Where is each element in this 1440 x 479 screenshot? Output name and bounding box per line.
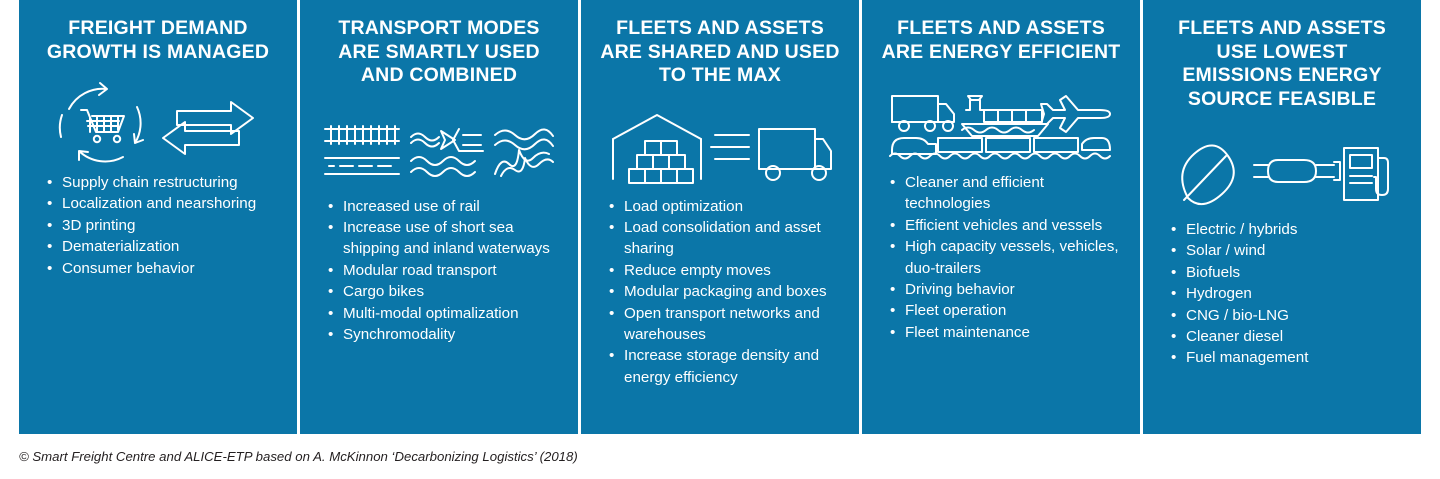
list-item: Hydrogen (1171, 283, 1405, 304)
list-item: Fuel management (1171, 347, 1405, 368)
panel-icon-group (1157, 123, 1407, 219)
list-item: Reduce empty moves (609, 260, 843, 281)
two-way-arrows-icon (163, 102, 253, 154)
list-item: Electric / hybrids (1171, 219, 1405, 240)
panel-bullet-list: Load optimization Load consolidation and… (595, 196, 845, 389)
list-item: 3D printing (47, 215, 281, 236)
list-item: Solar / wind (1171, 240, 1405, 261)
panel-title: FREIGHT DEMAND GROWTH IS MANAGED (37, 17, 279, 64)
list-item: Modular packaging and boxes (609, 281, 843, 302)
freight-train-icon (890, 138, 1110, 159)
list-item: High capacity vessels, vehicles, duo-tra… (890, 236, 1124, 279)
airplane-icon (1041, 96, 1110, 132)
list-item: Driving behavior (890, 279, 1124, 300)
list-item: Multi-modal optimalization (328, 303, 562, 324)
list-item: Supply chain restructuring (47, 172, 281, 193)
panel-icon-group (314, 100, 564, 196)
warehouse-boxes-icon (613, 115, 701, 183)
panel-bullet-list: Supply chain restructuring Localization … (33, 172, 283, 279)
circular-arrows-shopping-cart-icon (60, 83, 143, 161)
panel-icon-group (595, 100, 845, 196)
list-item: CNG / bio-LNG (1171, 305, 1405, 326)
list-item: Synchromodality (328, 324, 562, 345)
list-item: Load consolidation and asset sharing (609, 217, 843, 260)
copyright-footnote: © Smart Freight Centre and ALICE-ETP bas… (19, 449, 578, 465)
list-item: Fleet operation (890, 300, 1124, 321)
waterway-arrow-icon (411, 129, 483, 151)
panel-lowest-emissions-energy: FLEETS AND ASSETS USE LOWEST EMISSIONS E… (1143, 0, 1421, 434)
panel-title: FLEETS AND ASSETS USE LOWEST EMISSIONS E… (1161, 17, 1403, 111)
list-item: Cleaner and efficient technologies (890, 172, 1124, 215)
waves-icon (495, 129, 553, 149)
truck-icon (892, 96, 954, 131)
waves-icon-lower (411, 157, 475, 176)
panel-fleets-shared: FLEETS AND ASSETS ARE SHARED AND USED TO… (581, 0, 859, 434)
panel-bullet-list: Electric / hybrids Solar / wind Biofuels… (1157, 219, 1407, 369)
list-item: Cargo bikes (328, 281, 562, 302)
panel-icon-group (33, 76, 283, 172)
moving-truck-icon (711, 129, 831, 180)
list-item: Cleaner diesel (1171, 326, 1405, 347)
railway-track-icon (325, 126, 399, 144)
cargo-ship-icon (962, 96, 1048, 136)
list-item: Dematerialization (47, 236, 281, 257)
infographic-board: FREIGHT DEMAND GROWTH IS MANAGED (0, 0, 1440, 479)
panel-row: FREIGHT DEMAND GROWTH IS MANAGED (19, 0, 1421, 434)
leaf-icon (1182, 145, 1234, 204)
power-plug-icon (1254, 160, 1340, 182)
panel-freight-demand-growth: FREIGHT DEMAND GROWTH IS MANAGED (19, 0, 297, 434)
list-item: Efficient vehicles and vessels (890, 215, 1124, 236)
fuel-pump-icon (1344, 148, 1388, 200)
list-item: Increase storage density and energy effi… (609, 345, 843, 388)
dashed-road-icon (325, 158, 399, 174)
panel-title: FLEETS AND ASSETS ARE SHARED AND USED TO… (599, 17, 841, 88)
list-item: Increase use of short sea shipping and i… (328, 217, 562, 260)
list-item: Load optimization (609, 196, 843, 217)
list-item: Localization and nearshoring (47, 193, 281, 214)
list-item: Increased use of rail (328, 196, 562, 217)
list-item: Open transport networks and warehouses (609, 303, 843, 346)
panel-bullet-list: Cleaner and efficient technologies Effic… (876, 172, 1126, 343)
panel-fleets-energy-efficient: FLEETS AND ASSETS ARE ENERGY EFFICIENT (862, 0, 1140, 434)
list-item: Modular road transport (328, 260, 562, 281)
panel-transport-modes: TRANSPORT MODES ARE SMARTLY USED AND COM… (300, 0, 578, 434)
list-item: Consumer behavior (47, 258, 281, 279)
river-icon (495, 150, 553, 176)
list-item: Biofuels (1171, 262, 1405, 283)
panel-title: TRANSPORT MODES ARE SMARTLY USED AND COM… (318, 17, 560, 88)
panel-icon-group (876, 76, 1126, 172)
list-item: Fleet maintenance (890, 322, 1124, 343)
panel-bullet-list: Increased use of rail Increase use of sh… (314, 196, 564, 346)
panel-title: FLEETS AND ASSETS ARE ENERGY EFFICIENT (880, 17, 1122, 64)
